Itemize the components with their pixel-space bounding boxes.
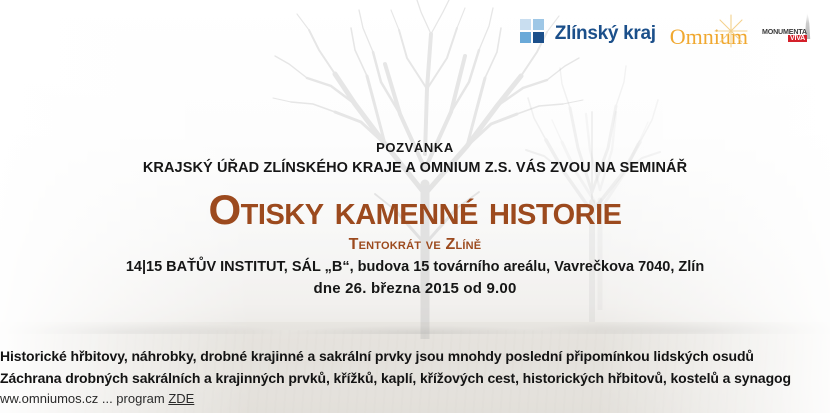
logo-row: Zlínský kraj Omnium MONUMENTA VIVA xyxy=(520,13,818,51)
subtitle-text: Tentokrát ve Zlíně xyxy=(0,236,830,254)
monumenta-logo-subtext: VIVA xyxy=(788,35,807,42)
zk-square-4 xyxy=(533,32,544,43)
zlinsky-kraj-logo-text: Zlínský kraj xyxy=(555,24,656,45)
zk-square-1 xyxy=(520,19,531,30)
footer-note-line-2: Záchrana drobných sakrálních a krajinnýc… xyxy=(0,370,830,386)
zlinsky-kraj-mark-icon xyxy=(520,19,550,45)
venue-text: 14|15 BAŤŮV INSTITUT, SÁL „B“, budova 15… xyxy=(0,259,830,275)
invitation-poster: Zlínský kraj Omnium MONUMENTA VIVA POZVÁ… xyxy=(0,0,830,413)
kicker-text: POZVÁNKA xyxy=(0,140,830,155)
starburst-icon xyxy=(714,14,748,48)
zlinsky-kraj-logo[interactable]: Zlínský kraj xyxy=(520,19,656,45)
footer-url-line: ww.omniumos.cz ... program ZDE xyxy=(0,391,830,406)
program-link[interactable]: ZDE xyxy=(168,391,194,406)
omnium-logo[interactable]: Omnium xyxy=(670,17,748,48)
zk-square-2 xyxy=(533,19,544,30)
page-title: Otisky kamenné historie xyxy=(0,188,830,232)
horizon-ridge xyxy=(0,318,830,334)
footer-note-line-1: Historické hřbitovy, náhrobky, drobné kr… xyxy=(0,348,830,364)
date-text: dne 26. března 2015 od 9.00 xyxy=(0,280,830,297)
zk-square-3 xyxy=(520,32,531,43)
organizer-line: KRAJSKÝ ÚŘAD ZLÍNSKÉHO KRAJE A OMNIUM Z.… xyxy=(0,160,830,176)
monumenta-logo[interactable]: MONUMENTA VIVA xyxy=(762,13,818,51)
url-text: ww.omniumos.cz ... program xyxy=(0,391,168,406)
